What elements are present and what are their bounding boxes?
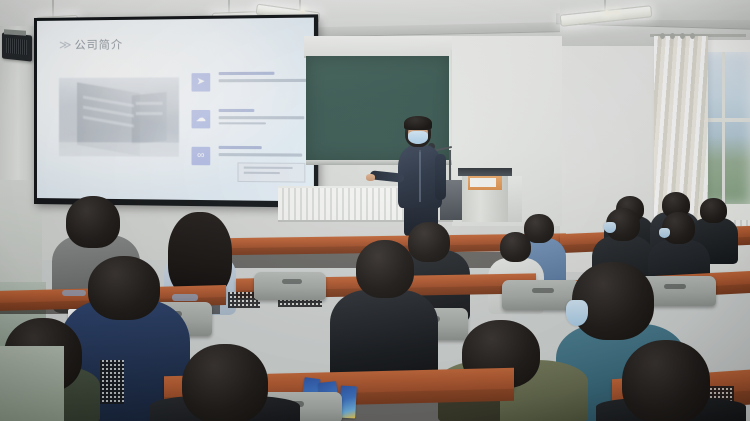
- student-head: [500, 232, 531, 262]
- student-head: [66, 196, 120, 248]
- board-top-rail: [304, 36, 452, 58]
- bullet-line: [219, 153, 303, 156]
- chair: [254, 272, 326, 300]
- link-icon: ∞: [192, 147, 211, 166]
- bullet-line: [219, 122, 266, 125]
- student-head: [88, 256, 160, 320]
- light-highlight: [604, 10, 610, 16]
- face-mask: [659, 228, 670, 238]
- light-highlight: [614, 10, 619, 15]
- window-mullion: [722, 52, 725, 204]
- desk-under-grid: [100, 360, 124, 404]
- student-head: [700, 198, 727, 223]
- lectern-paper: [470, 178, 496, 187]
- curtain-ring: [680, 33, 685, 39]
- presenter-arm: [435, 154, 446, 200]
- presenter-face-mask: [408, 131, 428, 144]
- face-mask: [604, 222, 616, 233]
- floor: [0, 346, 64, 421]
- curtain-ring: [690, 33, 695, 39]
- chair-badge: [62, 290, 86, 296]
- presenter-hand: [366, 174, 375, 181]
- list-item: ➤: [192, 72, 310, 104]
- lectern-top: [458, 168, 512, 176]
- light-highlight: [300, 9, 305, 14]
- list-item: ☁: [192, 109, 310, 141]
- slide-note-box: [237, 162, 305, 182]
- student-head: [356, 240, 414, 298]
- slide-title-marker: ≫: [59, 38, 73, 52]
- student-head: [182, 344, 268, 421]
- presenter-hair: [404, 116, 432, 130]
- slide-title: ≫公司简介: [59, 36, 123, 53]
- curtain-ring: [660, 33, 665, 39]
- classroom-photo: ≫公司简介 ➤: [0, 0, 750, 421]
- slide-photo: [59, 77, 179, 157]
- bullet-heading: [219, 146, 262, 149]
- bullet-heading: [219, 109, 255, 112]
- student-head: [408, 222, 450, 262]
- projection-screen[interactable]: ≫公司简介 ➤: [34, 14, 318, 207]
- bullet-line: [219, 79, 306, 82]
- bullet-heading: [219, 72, 275, 75]
- people-icon: ☁: [192, 110, 211, 128]
- curtain-ring: [670, 33, 675, 39]
- lectern-side: [508, 176, 522, 222]
- jacket-zipper: [419, 150, 421, 202]
- wall-speaker-left: [2, 32, 32, 61]
- student-head: [622, 340, 710, 421]
- chair-badge: [172, 294, 198, 301]
- bullet-line: [219, 116, 305, 119]
- slide-title-text: 公司简介: [75, 39, 124, 52]
- projected-slide: ≫公司简介 ➤: [37, 18, 314, 202]
- chevron-right-icon: ➤: [192, 73, 211, 91]
- face-mask: [566, 300, 588, 326]
